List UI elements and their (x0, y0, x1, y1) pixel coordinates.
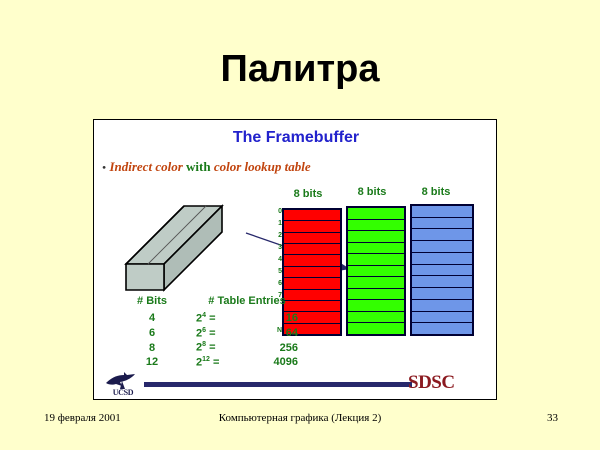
cell-entries: 64 (254, 326, 302, 341)
table-cell (412, 218, 472, 230)
table-cell (348, 277, 404, 289)
table-cell (284, 278, 340, 289)
brand-divider-rule (144, 382, 412, 387)
power-exponent: 12 (202, 356, 210, 363)
power-exponent: 4 (202, 312, 206, 319)
table-cell (412, 276, 472, 288)
footer-course: Компьютерная графика (Лекция 2) (0, 412, 600, 424)
embedded-slide-image: The Framebuffer • Indirect color with co… (93, 119, 497, 400)
table-cell (412, 253, 472, 265)
bullet-text-indirect-color: Indirect color (109, 159, 182, 174)
lookup-table-column-green (346, 206, 406, 336)
cell-bits: 6 (122, 326, 182, 341)
table-cell (412, 288, 472, 300)
table-cell (348, 243, 404, 255)
table-row: 6 26 = 64 (122, 326, 302, 341)
table-cell (284, 221, 340, 232)
power-exponent: 8 (202, 341, 206, 348)
equals-sign: = (209, 313, 215, 325)
col-header-entries: # Table Entries (182, 295, 302, 311)
table-row: 4 24 = 16 (122, 311, 302, 326)
cell-bits: 4 (122, 311, 182, 326)
cell-power: 212 = (182, 355, 254, 370)
table-cell (412, 323, 472, 334)
table-cell (348, 312, 404, 324)
table-cell (412, 265, 472, 277)
bullet-line: • Indirect color with color lookup table (102, 159, 311, 176)
table-cell (348, 231, 404, 243)
table-cell (348, 254, 404, 266)
slide-footer: 19 февраля 2001 Компьютерная графика (Ле… (0, 412, 600, 434)
table-cell (284, 267, 340, 278)
ucsd-wordmark: UCSD (102, 388, 144, 397)
table-cell (348, 266, 404, 278)
cell-power: 28 = (182, 340, 254, 355)
cell-power: 24 = (182, 311, 254, 326)
equals-sign: = (209, 327, 215, 339)
framebuffer-heading: The Framebuffer (94, 129, 498, 147)
bullet-text-color-lookup-table: color lookup table (214, 159, 311, 174)
bits-entries-table: # Bits # Table Entries 4 24 = 16 6 26 (122, 295, 302, 370)
table-cell (348, 300, 404, 312)
table-cell (348, 220, 404, 232)
power-exponent: 6 (202, 327, 206, 334)
table-cell (284, 255, 340, 266)
cell-entries: 16 (254, 311, 302, 326)
table-cell (412, 206, 472, 218)
table-cell (348, 323, 404, 334)
table-row: 12 212 = 4096 (122, 355, 302, 370)
table-header-row: # Bits # Table Entries (122, 295, 302, 311)
bullet-marker: • (102, 161, 106, 175)
cell-entries: 4096 (254, 355, 302, 370)
lookup-table-column-blue (410, 204, 474, 336)
table-cell (412, 300, 472, 312)
cell-bits: 8 (122, 340, 182, 355)
equals-sign: = (209, 342, 215, 354)
bits-label-red: 8 bits (278, 188, 338, 200)
bits-label-green: 8 bits (342, 186, 402, 198)
cell-entries: 256 (254, 340, 302, 355)
sdsc-wordmark: SDSC (408, 372, 455, 394)
table-row: 8 28 = 256 (122, 340, 302, 355)
table-cell (284, 244, 340, 255)
pixel-3d-box-icon (122, 202, 242, 292)
cell-bits: 12 (122, 355, 182, 370)
page-title: Палитра (0, 48, 600, 91)
table-cell (412, 229, 472, 241)
table-cell (348, 289, 404, 301)
cell-power: 26 = (182, 326, 254, 341)
footer-page-number: 33 (547, 412, 558, 424)
table-cell (284, 210, 340, 221)
bullet-text-with: with (186, 159, 211, 174)
bits-label-blue: 8 bits (406, 186, 466, 198)
table-cell (284, 233, 340, 244)
equals-sign: = (213, 357, 219, 369)
col-header-bits: # Bits (122, 295, 182, 311)
table-cell (412, 241, 472, 253)
table-cell (348, 208, 404, 220)
table-cell (412, 312, 472, 324)
